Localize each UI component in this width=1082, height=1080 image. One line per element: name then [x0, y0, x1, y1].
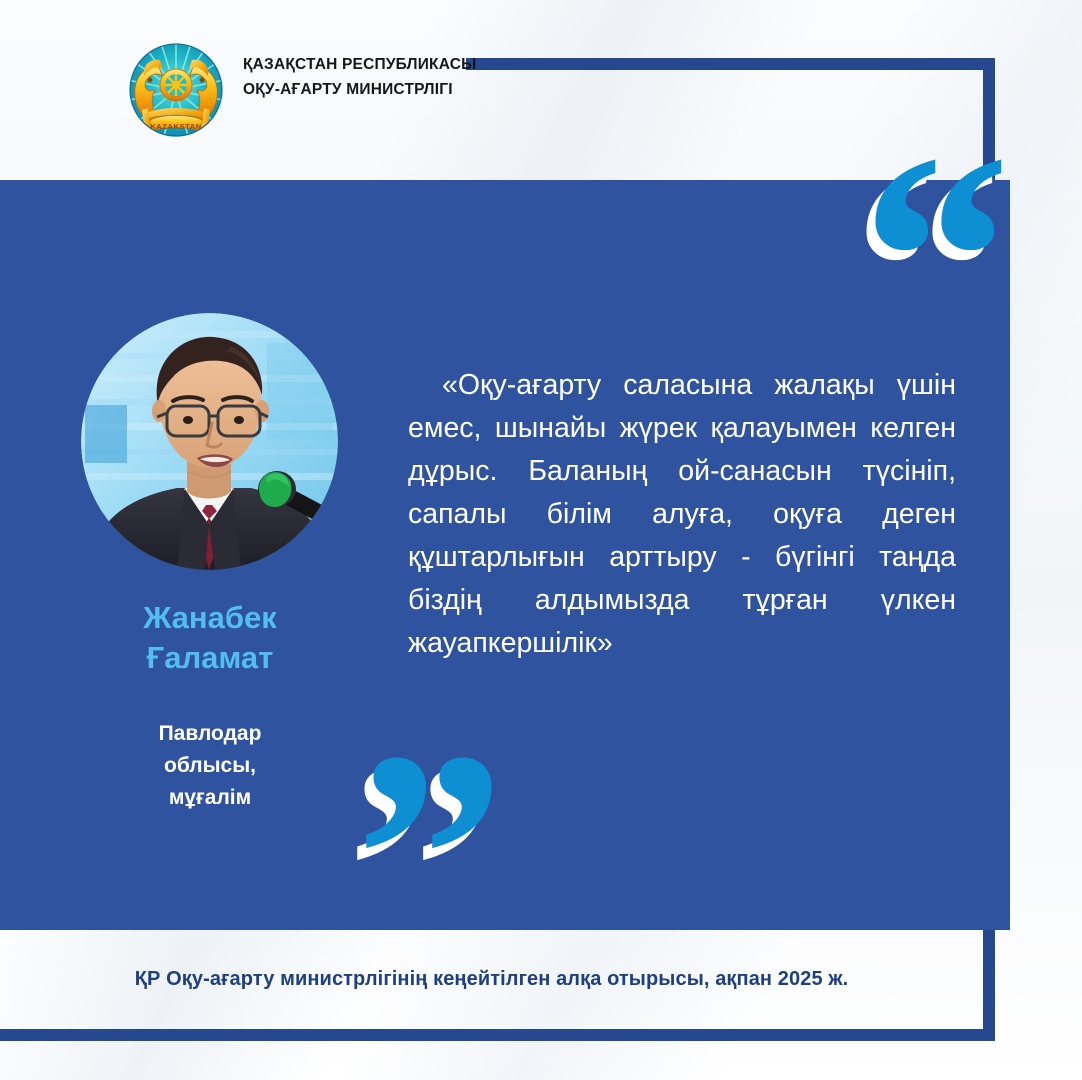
opening-quote-icon: “	[861, 108, 1005, 408]
speaker-role-line1: Павлодар	[50, 718, 370, 750]
kazakhstan-emblem-icon: KAZAKSTAN	[124, 36, 228, 144]
speaker-name-line1: Жанабек	[50, 598, 370, 638]
svg-text:KAZAKSTAN: KAZAKSTAN	[150, 122, 202, 131]
speaker-role: Павлодар облысы, мұғалім	[50, 718, 370, 814]
footer: ҚР Оқу-ағарту министрлігінің кеңейтілген…	[0, 930, 983, 1029]
speaker-role-line2: облысы,	[50, 750, 370, 782]
speaker-role-line3: мұғалім	[50, 782, 370, 814]
ministry-title: ҚАЗАҚСТАН РЕСПУБЛИКАСЫ ОҚУ-АҒАРТУ МИНИСТ…	[243, 52, 493, 102]
frame-bottom-bar	[0, 1029, 995, 1041]
ministry-title-line2: ОҚУ-АҒАРТУ МИНИСТРЛІГІ	[243, 77, 493, 102]
ministry-title-line1: ҚАЗАҚСТАН РЕСПУБЛИКАСЫ	[243, 52, 493, 77]
speaker-name-line2: Ғаламат	[50, 638, 370, 678]
speaker-name: Жанабек Ғаламат	[50, 598, 370, 678]
quote-text: «Оқу-ағарту саласына жалақы үшін емес, ш…	[408, 364, 956, 665]
speaker-portrait	[81, 313, 338, 570]
footer-caption: ҚР Оқу-ағарту министрлігінің кеңейтілген…	[135, 968, 849, 991]
quote-card: KAZAKSTAN ҚАЗАҚСТАН РЕСПУБЛИКАСЫ ОҚУ-АҒА…	[0, 0, 1082, 1080]
